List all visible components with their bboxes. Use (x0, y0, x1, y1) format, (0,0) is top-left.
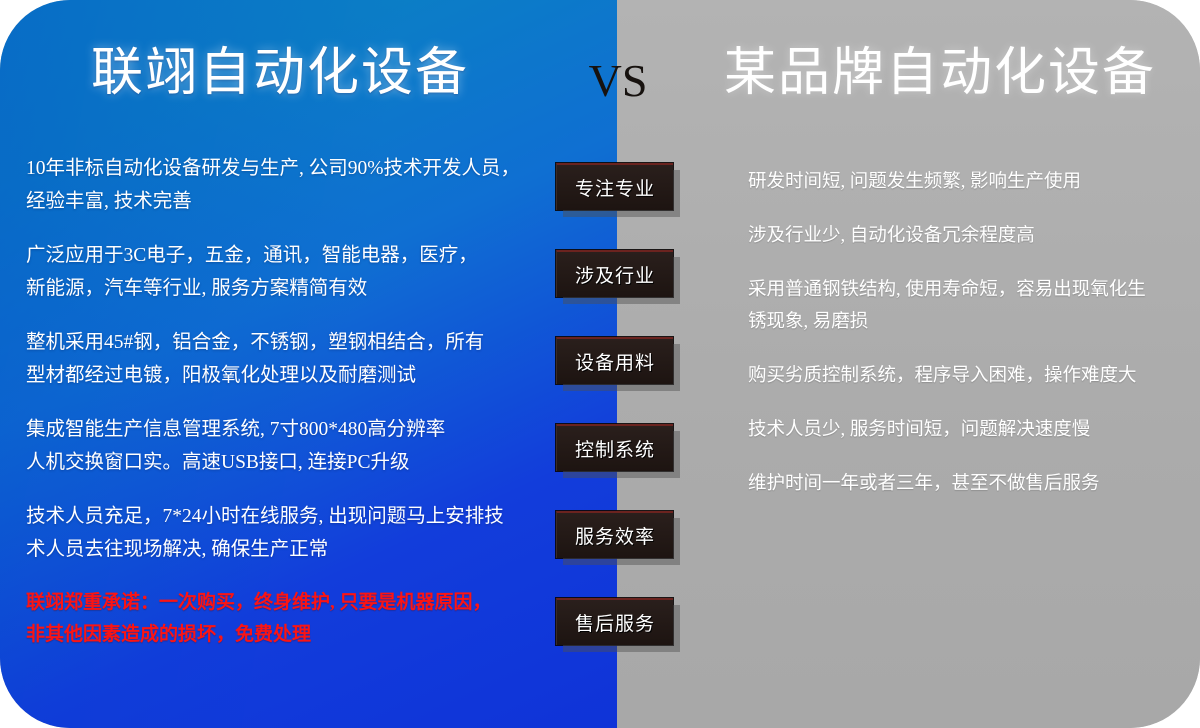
category-badge-list: 专注专业 涉及行业 设备用料 控制系统 服务效率 售后服务 (556, 163, 686, 685)
versus-label: VS (578, 58, 658, 104)
list-item: 购买劣质控制系统，程序导入困难，操作难度大 (748, 360, 1188, 392)
list-item: 维护时间一年或者三年，甚至不做售后服务 (748, 468, 1188, 500)
right-brand-title: 某品牌自动化设备 (690, 48, 1190, 100)
right-feature-list: 研发时间短, 问题发生频繁, 影响生产使用 涉及行业少, 自动化设备冗余程度高 … (748, 166, 1188, 522)
category-badge-label: 涉及行业 (575, 261, 655, 288)
category-badge-label: 控制系统 (575, 435, 655, 462)
list-item: 整机采用45#钢，铝合金，不锈钢，塑钢相结合，所有 型材都经过电镀，阳极氧化处理… (26, 326, 536, 392)
left-feature-list: 10年非标自动化设备研发与生产, 公司90%技术开发人员， 经验丰富, 技术完善… (26, 152, 536, 672)
category-badge-label: 售后服务 (575, 609, 655, 636)
left-brand-title: 联翊自动化设备 (0, 48, 560, 100)
list-item: 技术人员少, 服务时间短，问题解决速度慢 (748, 414, 1188, 446)
category-badge: 服务效率 (556, 511, 673, 558)
list-item: 集成智能生产信息管理系统, 7寸800*480高分辨率 人机交换窗口实。高速US… (26, 413, 536, 479)
category-badge: 控制系统 (556, 424, 673, 471)
guarantee-text: 联翊郑重承诺：一次购买，终身维护, 只要是机器原因， 非其他因素造成的损坏，免费… (26, 587, 536, 651)
category-badge: 设备用料 (556, 337, 673, 384)
category-badge: 售后服务 (556, 598, 673, 645)
list-item: 采用普通钢铁结构, 使用寿命短，容易出现氧化生 锈现象, 易磨损 (748, 274, 1188, 338)
comparison-slide: 联翊自动化设备 VS 某品牌自动化设备 10年非标自动化设备研发与生产, 公司9… (0, 0, 1200, 728)
list-item: 研发时间短, 问题发生频繁, 影响生产使用 (748, 166, 1188, 198)
list-item: 10年非标自动化设备研发与生产, 公司90%技术开发人员， 经验丰富, 技术完善 (26, 152, 536, 218)
category-badge-label: 服务效率 (575, 522, 655, 549)
list-item: 涉及行业少, 自动化设备冗余程度高 (748, 220, 1188, 252)
list-item: 技术人员充足，7*24小时在线服务, 出现问题马上安排技 术人员去往现场解决, … (26, 500, 536, 566)
category-badge: 涉及行业 (556, 250, 673, 297)
category-badge-label: 设备用料 (575, 348, 655, 375)
category-badge-label: 专注专业 (575, 174, 655, 201)
category-badge: 专注专业 (556, 163, 673, 210)
list-item: 广泛应用于3C电子，五金，通讯，智能电器，医疗， 新能源，汽车等行业, 服务方案… (26, 239, 536, 305)
